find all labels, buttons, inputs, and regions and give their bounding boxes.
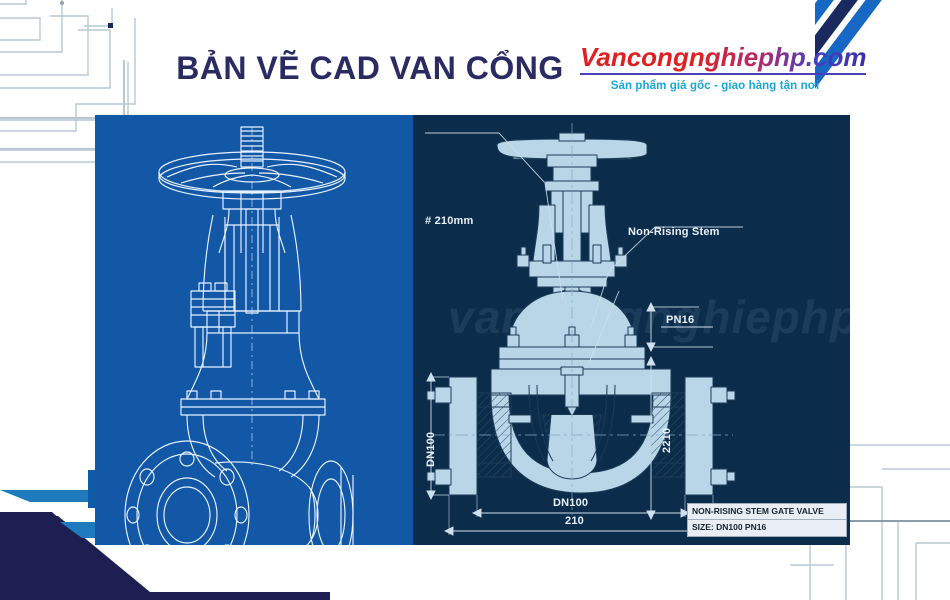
- page-title: BẢN VẼ CAD VAN CỔNG: [120, 52, 620, 84]
- dimension-dn100-bottom: DN100: [553, 497, 588, 509]
- slide-canvas: BẢN VẼ CAD VAN CỔNG Vancongnghiephp.com …: [0, 0, 950, 600]
- brand-tagline: Sản phẩm giá gốc - giao hàng tận nơi: [580, 80, 850, 92]
- drawing-title-block: NON-RISING STEM GATE VALVE SIZE: DN100 P…: [687, 503, 847, 537]
- annotation-non-rising-stem: Non-Rising Stem: [628, 226, 720, 238]
- dimension-210-bottom: 210: [565, 515, 584, 527]
- title-block-line-2: SIZE: DN100 PN16: [688, 519, 846, 535]
- cad-section-drawing: [413, 115, 850, 545]
- dimension-dn100-vertical: DN100: [425, 432, 437, 467]
- drawing-figure: vancongnghiephp.vn: [95, 115, 850, 545]
- title-block-line-1: NON-RISING STEM GATE VALVE: [688, 504, 846, 519]
- brand-logo[interactable]: Vancongnghiephp.com Sản phẩm giá gốc - g…: [580, 44, 850, 92]
- dimension-pn16: PN16: [666, 314, 694, 326]
- blueprint-panel[interactable]: [95, 115, 413, 545]
- brand-name: Vancongnghiephp.com: [580, 44, 866, 75]
- dimension-2210: 2210: [661, 428, 673, 453]
- annotation-210mm: # 210mm: [425, 215, 474, 227]
- slide-header: BẢN VẼ CAD VAN CỔNG Vancongnghiephp.com …: [0, 0, 950, 112]
- cad-panel[interactable]: vancongnghiephp.vn: [413, 115, 850, 545]
- blueprint-wireframe-valve: [95, 115, 413, 545]
